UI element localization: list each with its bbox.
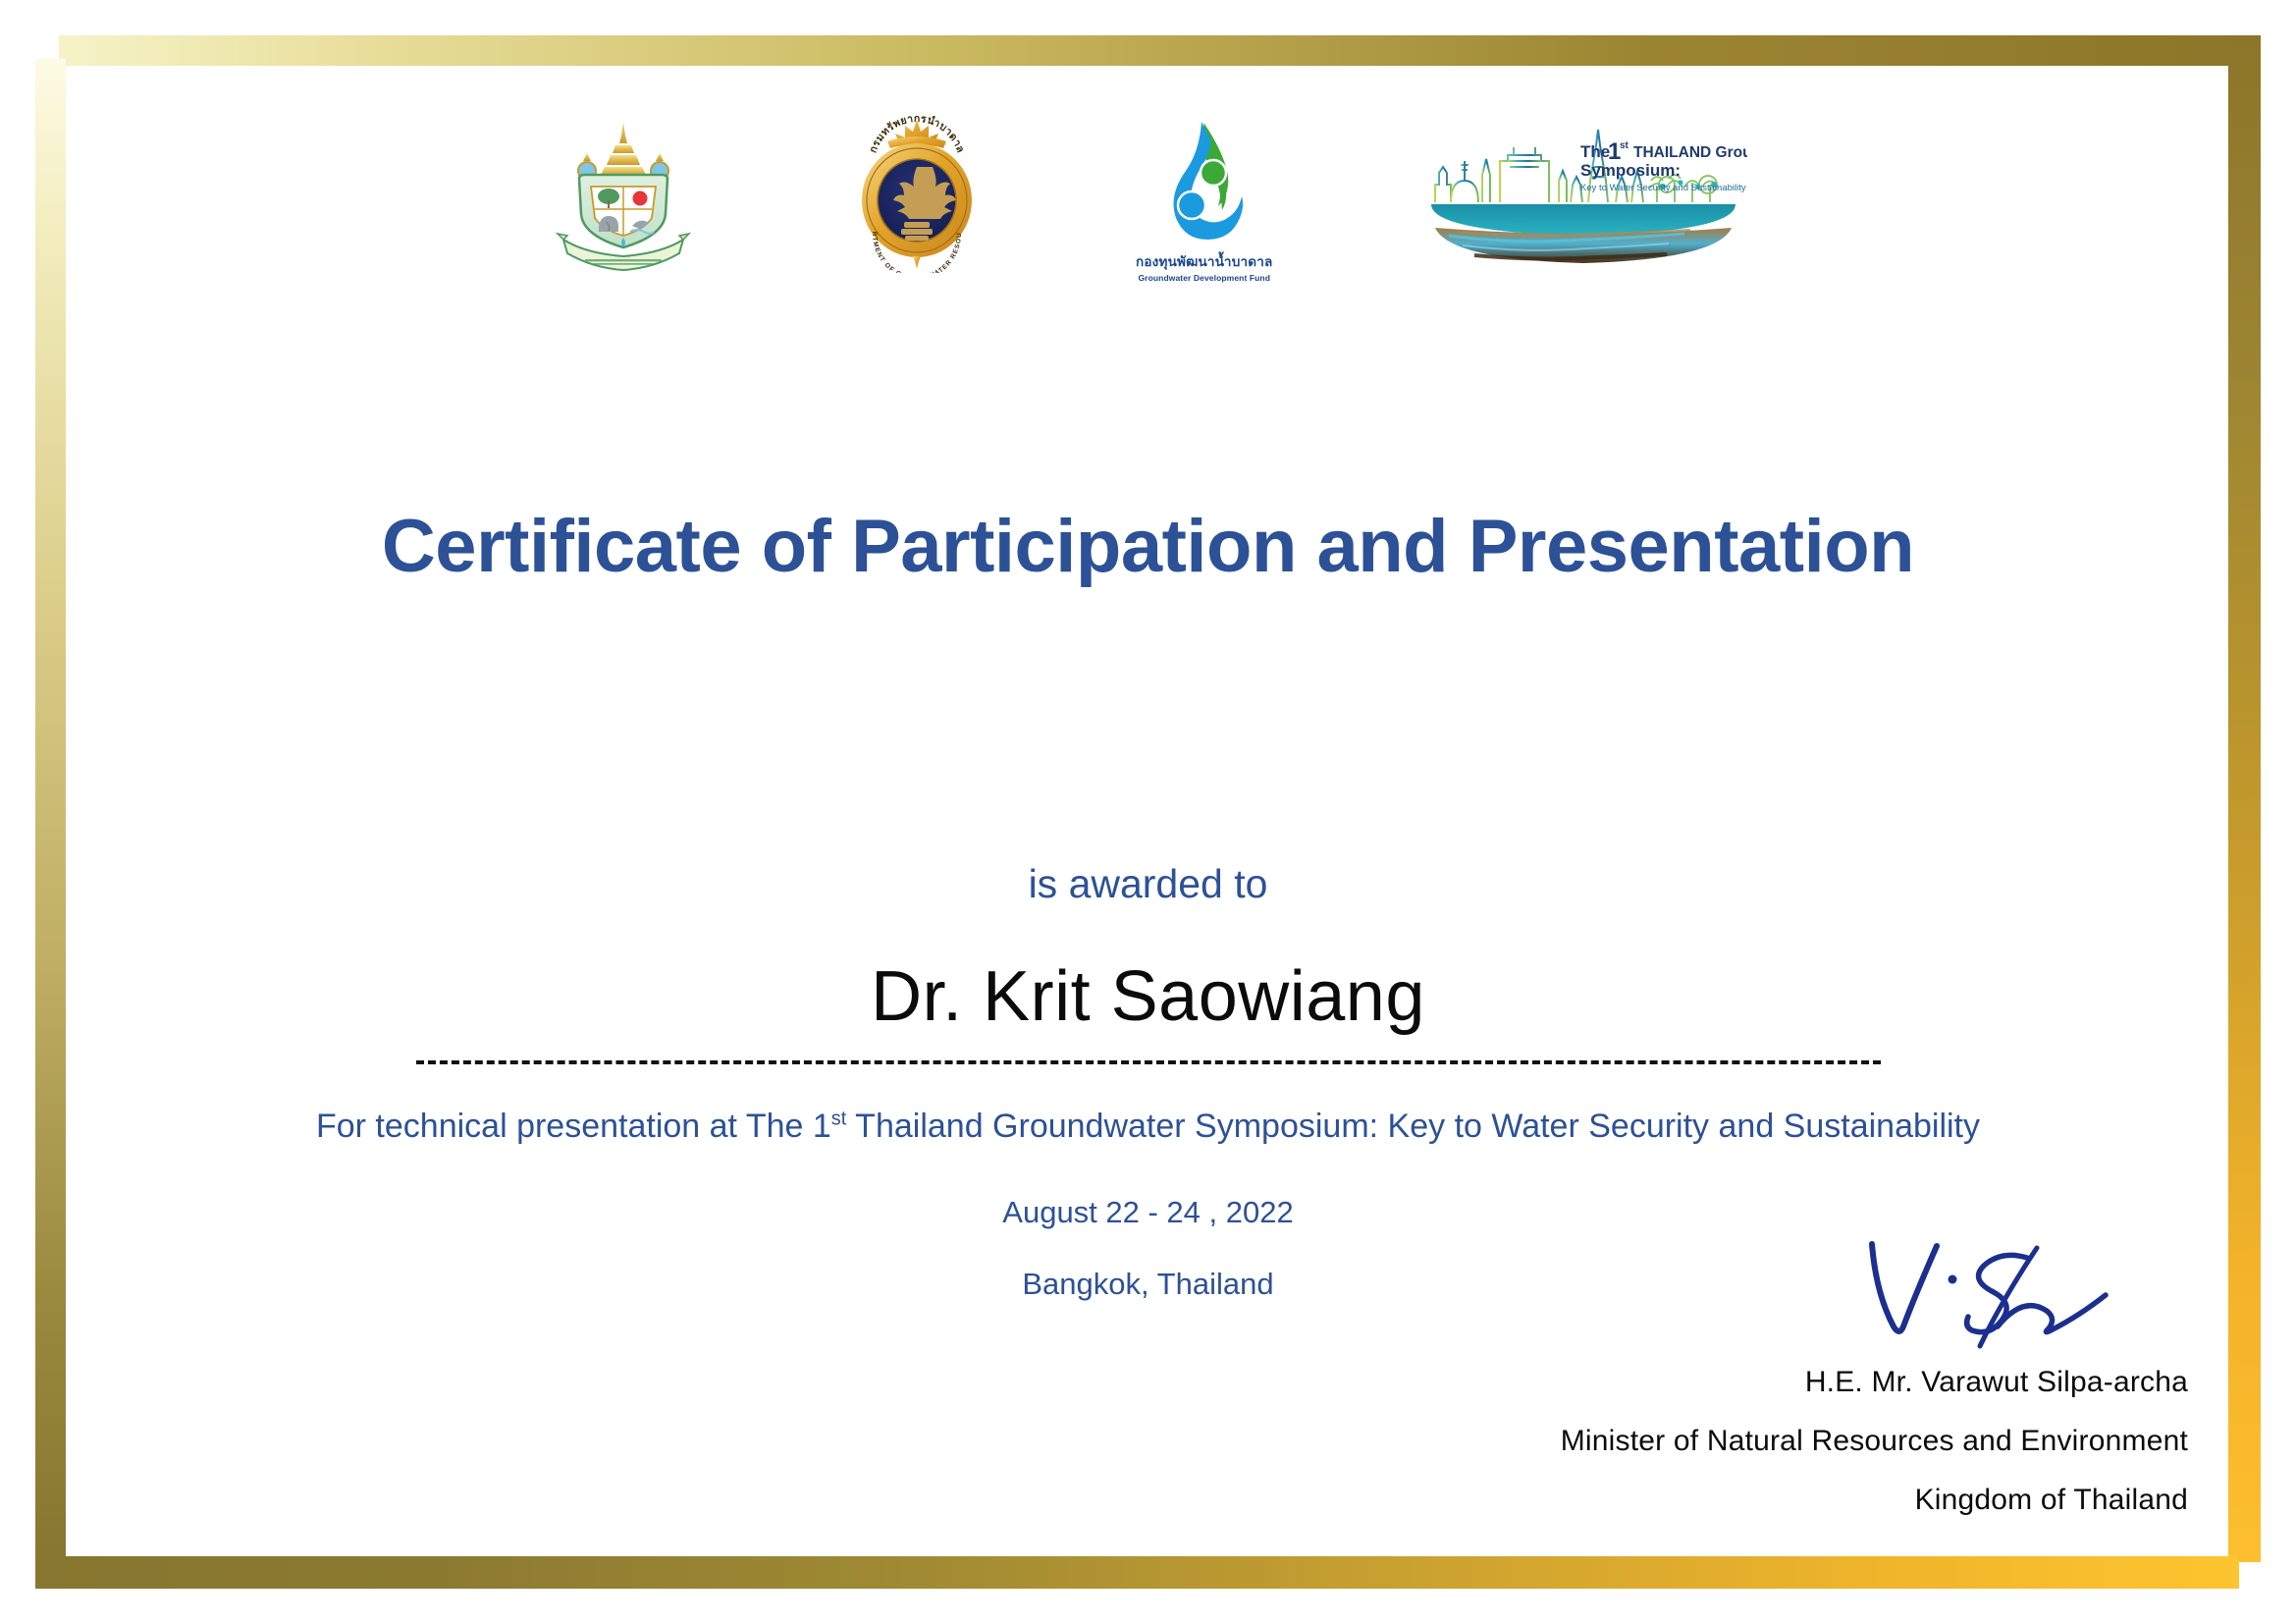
fund-caption-english: Groundwater Development Fund [1138,273,1270,283]
handwritten-signature-icon [1854,1236,2149,1360]
citation-prefix: For technical presentation at The 1 [316,1108,831,1145]
symposium-title-line2: Symposium: [1580,161,1681,180]
water-drop-icon [1143,116,1265,248]
page-title: Certificate of Participation and Present… [0,504,2296,589]
citation-line: For technical presentation at The 1st Th… [0,1108,2296,1146]
recipient-name-rule [416,1060,1881,1064]
frame-band-right [2228,35,2261,1562]
awarded-to-label: is awarded to [0,861,2296,907]
logo-symposium: The 1 st THAILAND Groundwater Symposium:… [1423,116,1747,263]
frame-band-top [59,35,2261,66]
event-date: August 22 - 24 , 2022 [0,1195,2296,1230]
symposium-ordinal: st [1620,140,1629,151]
signature-mark [1206,1230,2188,1360]
symposium-tagline: Key to Water Security and Sustainability [1580,183,1746,193]
signatory-role: Minister of Natural Resources and Enviro… [1206,1425,2188,1458]
symposium-skyline-icon: The 1 st THAILAND Groundwater Symposium:… [1423,116,1747,263]
ministry-emblem-icon [550,116,697,273]
logo-ministry-emblem [550,116,697,273]
logo-groundwater-development-fund: กองทุนพัฒนาน้ำบาดาล Groundwater Developm… [1136,116,1272,283]
signatory-country: Kingdom of Thailand [1206,1484,2188,1517]
logo-row: กรมทรัพยากรน้ำบาดาล DEPARTMENT OF GROUND… [550,116,1747,278]
logo-department-groundwater-resources: กรมทรัพยากรน้ำบาดาล DEPARTMENT OF GROUND… [848,116,986,273]
recipient-name: Dr. Krit Saowiang [0,960,2296,1035]
signatory-name: H.E. Mr. Varawut Silpa-archa [1206,1366,2188,1399]
citation-ordinal: st [831,1109,847,1130]
recipient-block: Dr. Krit Saowiang [0,960,2296,1035]
groundwater-department-seal-icon: กรมทรัพยากรน้ำบาดาล DEPARTMENT OF GROUND… [848,116,986,273]
citation-suffix: Thailand Groundwater Symposium: Key to W… [846,1108,1980,1145]
signature-block: H.E. Mr. Varawut Silpa-archa Minister of… [1206,1230,2188,1517]
symposium-title-line1: THAILAND Groundwater [1633,144,1747,161]
symposium-the: The [1580,142,1610,161]
frame-band-bottom [35,1556,2239,1589]
fund-caption-thai: กองทุนพัฒนาน้ำบาดาล [1136,250,1272,272]
certificate-page: กรมทรัพยากรน้ำบาดาล DEPARTMENT OF GROUND… [0,0,2296,1624]
frame-band-left [35,59,66,1564]
